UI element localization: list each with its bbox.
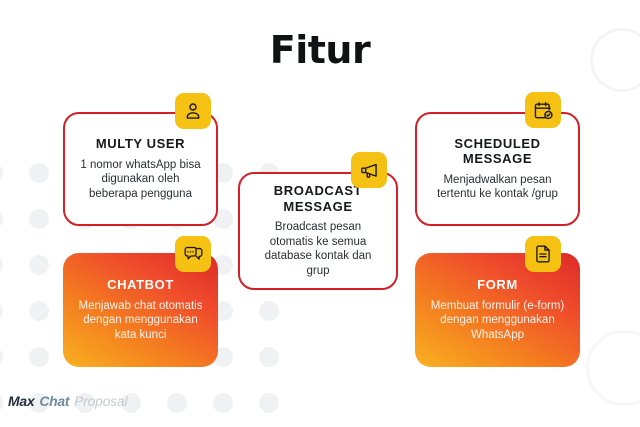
page-title: Fitur	[0, 28, 640, 72]
user-icon	[175, 93, 211, 129]
slide-canvas: Fitur MULTY USER 1 nomor whatsApp bisa d…	[0, 0, 640, 427]
feature-card-broadcast-message[interactable]: BROADCAST MESSAGE Broadcast pesan otomat…	[238, 172, 398, 290]
feature-card-title: MULTY USER	[96, 136, 185, 151]
feature-card-title: FORM	[477, 277, 518, 292]
feature-card-scheduled-message[interactable]: SCHEDULED MESSAGE Menjadwalkan pesan ter…	[415, 112, 580, 226]
brand-subtitle: Proposal	[74, 394, 127, 409]
chat-bubbles-icon	[175, 236, 211, 272]
feature-card-description: 1 nomor whatsApp bisa digunakan oleh beb…	[77, 158, 204, 202]
footer-brand: MaxChat Proposal	[8, 393, 128, 409]
megaphone-icon	[351, 152, 387, 188]
feature-card-description: Broadcast pesan otomatis ke semua databa…	[252, 220, 384, 279]
feature-card-description: Menjawab chat otomatis dengan menggunaka…	[75, 299, 206, 343]
feature-card-multy-user[interactable]: MULTY USER 1 nomor whatsApp bisa digunak…	[63, 112, 218, 226]
document-icon	[525, 236, 561, 272]
calendar-check-icon	[525, 92, 561, 128]
feature-card-title: CHATBOT	[107, 277, 174, 292]
brand-name-primary: Max	[8, 393, 34, 409]
feature-card-description: Membuat formulir (e-form) dengan menggun…	[427, 299, 568, 343]
feature-card-title: SCHEDULED MESSAGE	[429, 136, 566, 167]
background-circle-decoration-2	[586, 330, 640, 406]
feature-card-description: Menjadwalkan pesan tertentu ke kontak /g…	[429, 173, 566, 202]
brand-name-secondary: Chat	[39, 393, 69, 409]
